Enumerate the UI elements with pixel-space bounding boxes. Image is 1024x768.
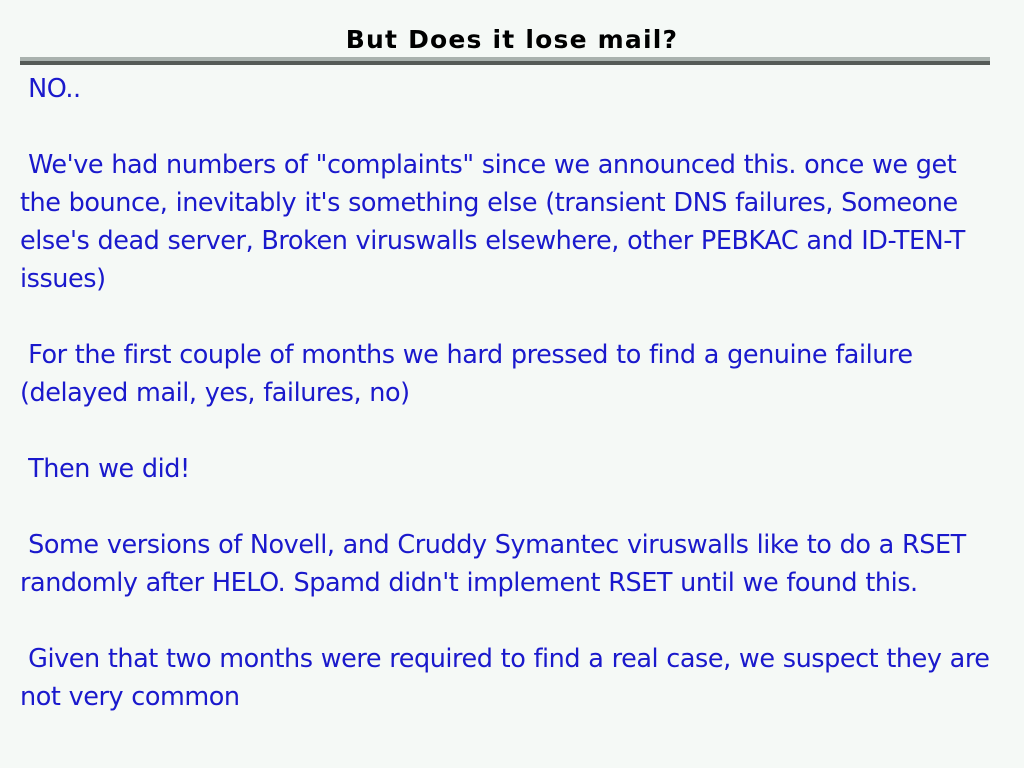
body-paragraph-then-we-did: Then we did! <box>20 450 1004 488</box>
divider-shadow <box>20 61 990 65</box>
paragraph-spacer <box>20 298 1004 336</box>
slide-body: NO.. We've had numbers of "complaints" s… <box>20 70 1004 716</box>
body-paragraph-complaints: We've had numbers of "complaints" since … <box>20 146 1004 298</box>
body-paragraph-novell-symantec: Some versions of Novell, and Cruddy Syma… <box>20 526 1004 602</box>
body-paragraph-first-couple-months: For the first couple of months we hard p… <box>20 336 1004 412</box>
presentation-slide: But Does it lose mail? NO.. We've had nu… <box>0 0 1024 768</box>
paragraph-spacer <box>20 108 1004 146</box>
title-divider-rule <box>20 57 990 65</box>
paragraph-spacer <box>20 488 1004 526</box>
paragraph-spacer <box>20 412 1004 450</box>
body-paragraph-answer: NO.. <box>20 70 1004 108</box>
page-title: But Does it lose mail? <box>0 26 1024 54</box>
body-paragraph-not-very-common: Given that two months were required to f… <box>20 640 1004 716</box>
paragraph-spacer <box>20 602 1004 640</box>
